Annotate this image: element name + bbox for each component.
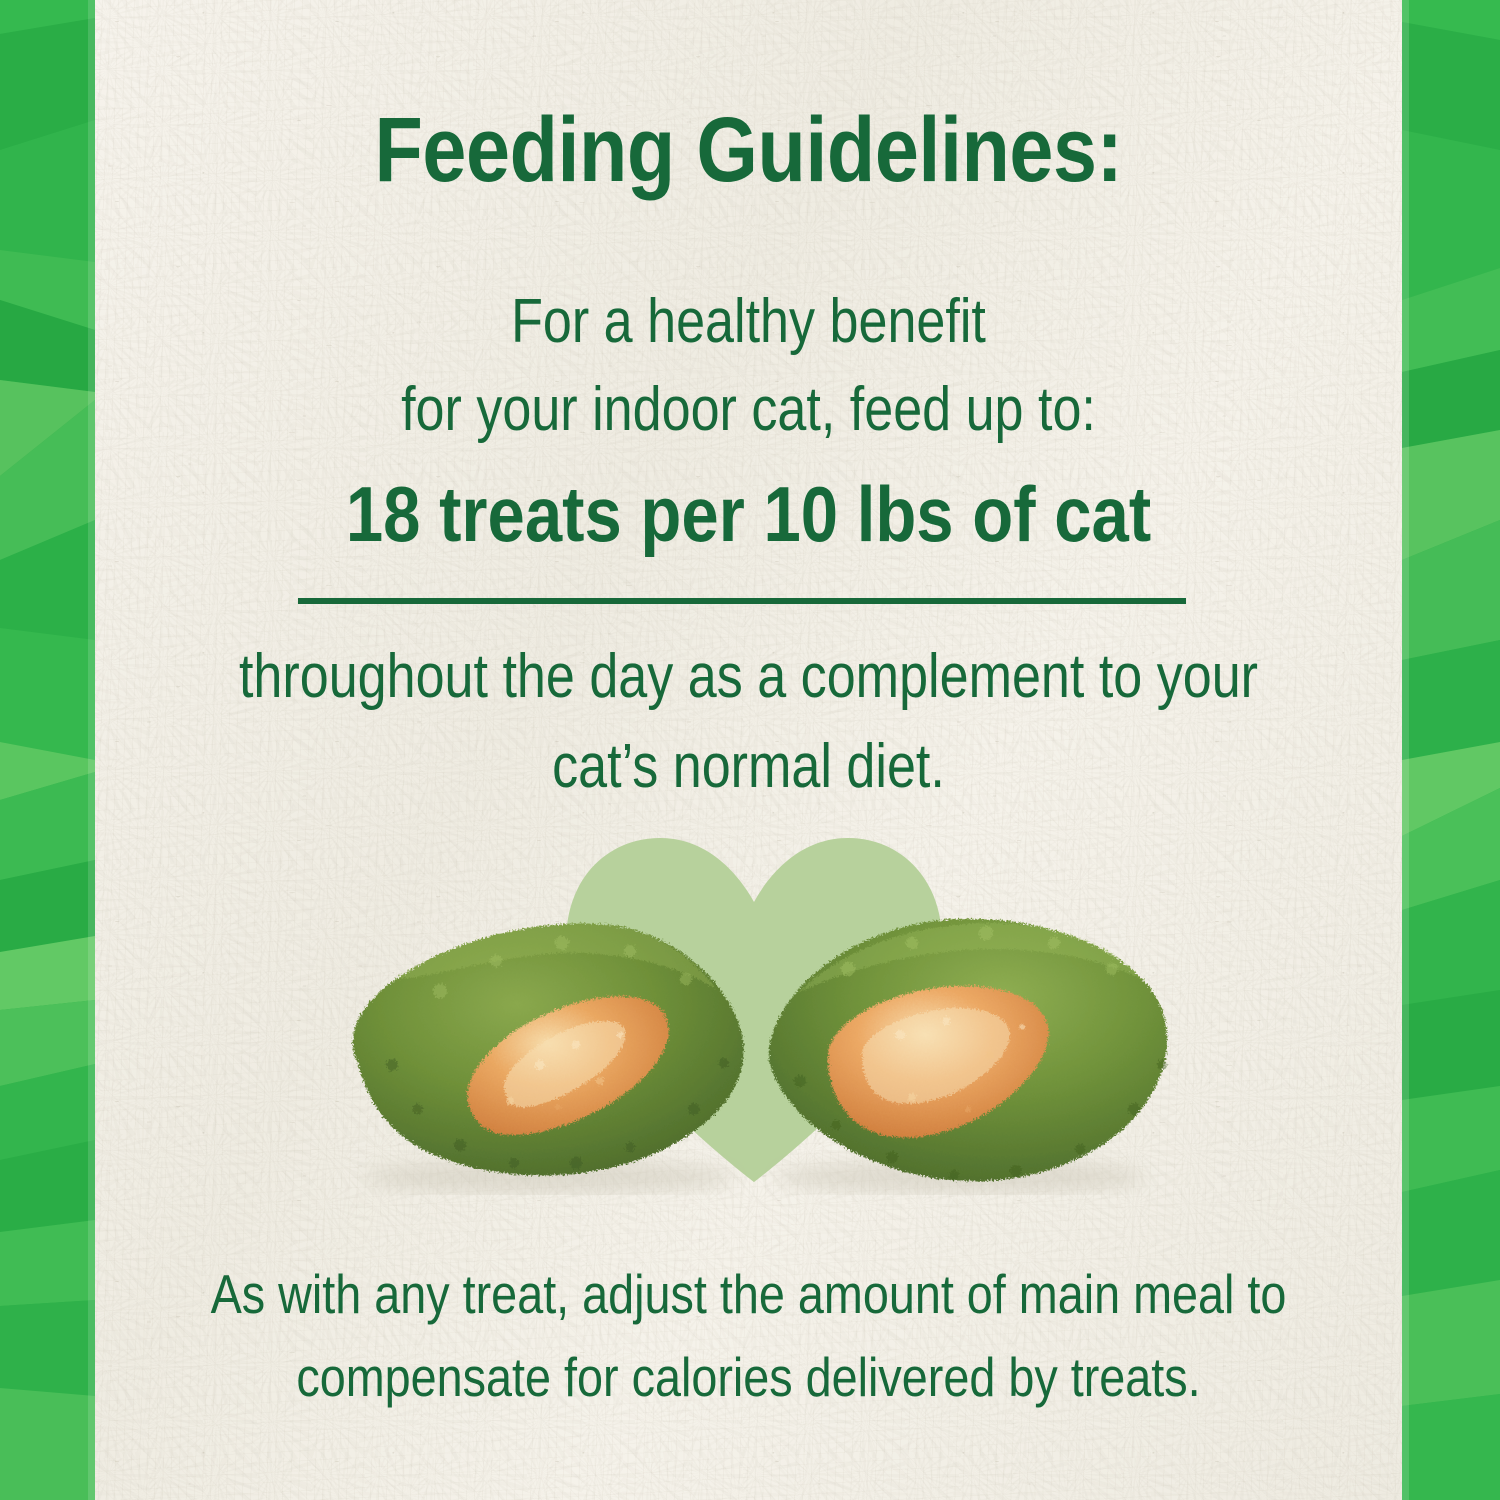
cat-treat-halved-right — [769, 919, 1167, 1181]
intro-line-2: for your indoor cat, feed up to: — [200, 366, 1298, 454]
footnote-line-2: compensate for calories delivered by tre… — [193, 1336, 1304, 1419]
after-rule-text: throughout the day as a complement to yo… — [200, 632, 1298, 812]
divider-rule — [298, 598, 1186, 604]
page-title: Feeding Guidelines: — [186, 104, 1310, 196]
treat-photo-group — [300, 895, 1205, 1195]
cat-treat-halved-left — [353, 923, 744, 1175]
feeding-guidelines-panel: Feeding Guidelines: For a healthy benefi… — [0, 0, 1500, 1500]
left-green-border — [0, 0, 95, 1500]
intro-text: For a healthy benefit for your indoor ca… — [200, 278, 1298, 454]
right-green-border — [1402, 0, 1500, 1500]
footnote-text: As with any treat, adjust the amount of … — [193, 1253, 1304, 1418]
intro-line-1: For a healthy benefit — [200, 278, 1298, 366]
after-rule-line-2: cat’s normal diet. — [200, 722, 1298, 812]
footnote-line-1: As with any treat, adjust the amount of … — [193, 1253, 1304, 1336]
feeding-amount-headline: 18 treats per 10 lbs of cat — [186, 474, 1310, 556]
after-rule-line-1: throughout the day as a complement to yo… — [200, 632, 1298, 722]
